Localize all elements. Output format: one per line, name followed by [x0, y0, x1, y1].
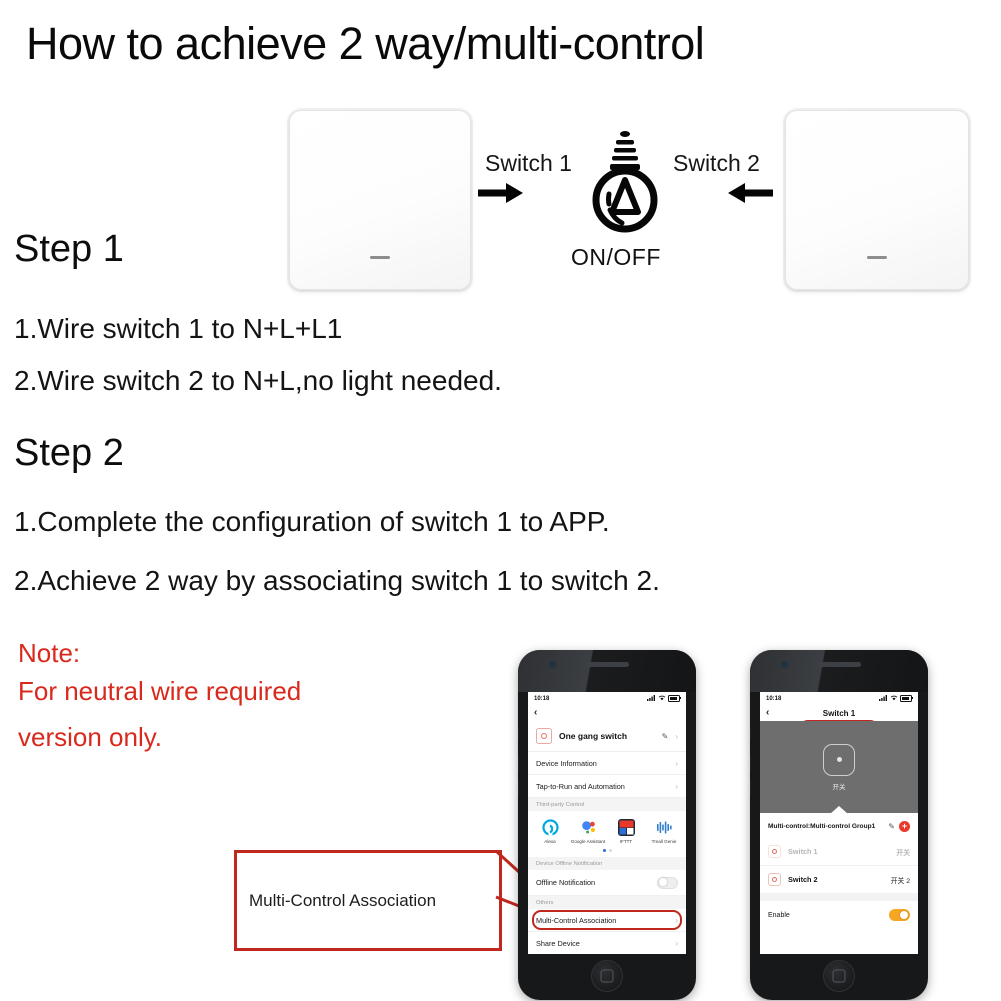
chevron-right-icon: › — [675, 782, 678, 791]
row-label: Multi-Control Association — [536, 916, 675, 925]
signal-bars-icon — [879, 695, 888, 703]
member-name: Switch 2 — [788, 875, 884, 884]
step-1-line-1: 1.Wire switch 1 to N+L+L1 — [14, 313, 342, 345]
row-label: Share Device — [536, 939, 675, 948]
step-2-line-1: 1.Complete the configuration of switch 1… — [14, 506, 610, 538]
nav-title: Switch 1 — [760, 709, 918, 718]
status-time: 10:18 — [534, 696, 549, 702]
member-name: Switch 1 — [788, 847, 889, 856]
chevron-left-icon[interactable]: ‹ — [534, 708, 537, 718]
step-2-heading: Step 2 — [14, 432, 124, 475]
device-name: One gang switch — [559, 731, 655, 741]
volume-up-button[interactable] — [518, 754, 519, 772]
member-detail: 开关 2 — [891, 875, 910, 885]
light-bulb-icon — [583, 128, 667, 238]
phone-right: 10:18 ‹ Switch 1 开关 — [750, 650, 928, 1000]
device-header-row[interactable]: One gang switch ✎ › — [528, 721, 686, 752]
enable-toggle[interactable] — [889, 909, 910, 921]
status-time: 10:18 — [766, 696, 781, 702]
row-label: Device Information — [536, 759, 675, 768]
carousel-dot-active[interactable] — [603, 849, 606, 852]
offline-notification-toggle[interactable] — [657, 877, 678, 889]
phone-left-screen: 10:18 ‹ One gang switch — [528, 692, 686, 954]
status-bar: 10:18 — [528, 692, 686, 705]
page-title: How to achieve 2 way/multi-control — [26, 18, 704, 70]
volume-down-button[interactable] — [750, 778, 751, 796]
switch-2-label: Switch 2 — [673, 150, 760, 177]
third-party-alexa[interactable]: Alexa — [531, 819, 569, 844]
note-line-2: version only. — [18, 722, 162, 753]
mute-switch[interactable] — [750, 728, 751, 740]
third-party-tmall-genie[interactable]: Tmall Genie — [645, 819, 683, 844]
section-third-party-control: Third-party Control — [528, 798, 686, 811]
phone-left-bezel-glare — [518, 650, 696, 692]
earpiece-speaker — [817, 662, 861, 667]
volume-down-button[interactable] — [518, 778, 519, 796]
third-party-label: IFTTT — [620, 839, 633, 844]
panel-notch — [830, 806, 848, 814]
row-tap-to-run-and-automation[interactable]: Tap-to-Run and Automation › — [528, 775, 686, 798]
third-party-label: Tmall Genie — [652, 839, 677, 844]
battery-icon — [900, 695, 912, 702]
row-share-device[interactable]: Share Device › — [528, 932, 686, 954]
switch-button-icon[interactable] — [823, 744, 855, 776]
pencil-icon[interactable]: ✎ — [662, 732, 669, 741]
device-avatar-icon — [536, 728, 552, 744]
member-icon — [768, 845, 781, 858]
switch-panel-1 — [289, 110, 471, 290]
switch-panel-1-marker — [370, 256, 390, 259]
note-line-1: For neutral wire required — [18, 676, 301, 707]
member-row-switch-1[interactable]: Switch 1 开关 — [760, 838, 918, 866]
multi-control-group-header: Multi-control:Multi-control Group1 ✎ + — [760, 813, 918, 838]
section-device-offline-notification: Device Offline Notification — [528, 857, 686, 870]
row-label: Offline Notification — [536, 878, 657, 887]
front-camera-icon — [549, 661, 556, 668]
row-label: Tap-to-Run and Automation — [536, 782, 675, 791]
earpiece-speaker — [585, 662, 629, 667]
wifi-icon — [890, 695, 898, 703]
switch-panel-2-marker — [867, 256, 887, 259]
third-party-label: Alexa — [544, 839, 556, 844]
third-party-google-assistant[interactable]: Google Assistant — [569, 819, 607, 844]
step-1-heading: Step 1 — [14, 228, 124, 271]
pencil-icon[interactable]: ✎ — [888, 822, 895, 831]
switch-panel-2 — [785, 110, 969, 290]
callout-box: Multi-Control Association — [234, 850, 502, 951]
arrow-right-icon — [478, 182, 524, 204]
carousel-dot[interactable] — [609, 849, 612, 852]
note-label: Note: — [18, 638, 80, 669]
wifi-icon — [658, 695, 666, 703]
carousel-dots[interactable] — [528, 846, 686, 857]
row-enable[interactable]: Enable — [760, 901, 918, 929]
status-bar: 10:18 — [760, 692, 918, 705]
status-indicators — [647, 695, 680, 703]
alexa-icon — [542, 819, 559, 836]
step-1-line-2: 2.Wire switch 2 to N+L,no light needed. — [14, 365, 502, 397]
callout-label: Multi-Control Association — [249, 891, 436, 911]
hero-label: 开关 — [833, 781, 846, 791]
volume-up-button[interactable] — [750, 754, 751, 772]
section-divider — [760, 894, 918, 901]
member-detail: 开关 — [896, 847, 910, 857]
arrow-left-icon — [728, 182, 774, 204]
phone-left: 10:18 ‹ One gang switch — [518, 650, 696, 1000]
home-button[interactable] — [591, 960, 623, 992]
step-2-line-2: 2.Achieve 2 way by associating switch 1 … — [14, 565, 660, 597]
status-indicators — [879, 695, 912, 703]
tmall-genie-icon — [656, 819, 673, 836]
google-assistant-icon — [580, 819, 597, 836]
chevron-right-icon: › — [675, 732, 678, 741]
section-others: Others — [528, 896, 686, 909]
nav-bar: ‹ Switch 1 — [760, 705, 918, 721]
row-multi-control-association[interactable]: Multi-Control Association › — [528, 909, 686, 932]
poster-root: How to achieve 2 way/multi-control Switc… — [0, 0, 1001, 1001]
home-button[interactable] — [823, 960, 855, 992]
bulb-onoff-label: ON/OFF — [571, 244, 661, 271]
row-device-information[interactable]: Device Information › — [528, 752, 686, 775]
member-row-switch-2[interactable]: Switch 2 开关 2 — [760, 866, 918, 894]
mute-switch[interactable] — [518, 728, 519, 740]
switch-1-label: Switch 1 — [485, 150, 572, 177]
row-label: Enable — [768, 912, 889, 919]
add-member-button[interactable]: + — [899, 821, 910, 832]
chevron-right-icon: › — [675, 759, 678, 768]
battery-icon — [668, 695, 680, 702]
phone-right-bezel-glare — [750, 650, 928, 692]
third-party-label: Google Assistant — [571, 839, 605, 844]
member-icon — [768, 873, 781, 886]
device-hero-panel: 开关 — [760, 721, 918, 813]
front-camera-icon — [781, 661, 788, 668]
third-party-ifttt[interactable]: IFTTT — [607, 819, 645, 844]
signal-bars-icon — [647, 695, 656, 703]
third-party-grid: Alexa Google Assistant IFTTT — [528, 811, 686, 846]
phone-right-screen: 10:18 ‹ Switch 1 开关 — [760, 692, 918, 954]
row-offline-notification[interactable]: Offline Notification — [528, 870, 686, 896]
chevron-right-icon: › — [675, 939, 678, 948]
chevron-right-icon: › — [675, 916, 678, 925]
nav-bar: ‹ — [528, 705, 686, 721]
group-label: Multi-control:Multi-control Group1 — [768, 823, 884, 830]
ifttt-icon — [618, 819, 635, 836]
